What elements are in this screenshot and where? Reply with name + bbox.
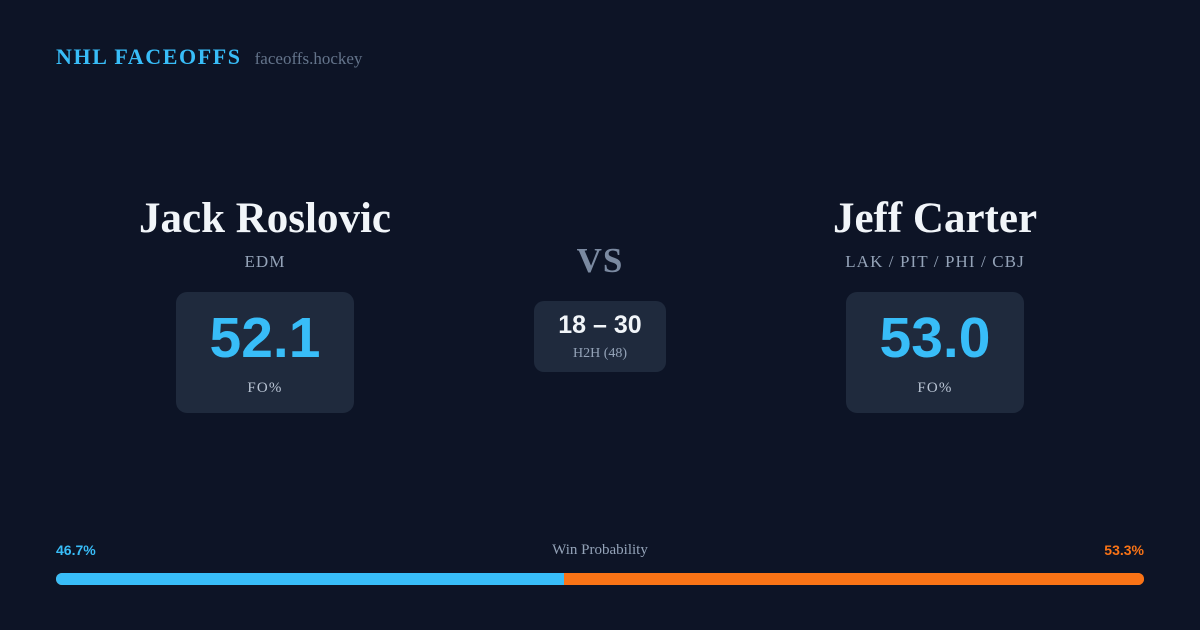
head-to-head-label: H2H (48) — [573, 347, 627, 361]
brand-domain: faceoffs.hockey — [255, 50, 363, 67]
player-left-stat-card: 52.1 FO% — [176, 292, 355, 413]
head-to-head-record: 18 – 30 — [558, 313, 641, 338]
player-right: Jeff Carter LAK / PIT / PHI / CBJ 53.0 F… — [705, 195, 1165, 413]
player-left-stat-value: 52.1 — [210, 310, 321, 367]
head-to-head-card: 18 – 30 H2H (48) — [534, 301, 665, 372]
brand-header: NHL FACEOFFS faceoffs.hockey — [56, 46, 362, 68]
player-right-stat-card: 53.0 FO% — [846, 292, 1025, 413]
win-probability-bar — [56, 573, 1144, 585]
versus-column: VS 18 – 30 H2H (48) — [495, 195, 705, 372]
win-probability-section: 46.7% Win Probability 53.3% — [56, 540, 1144, 585]
win-probability-right-percent: 53.3% — [1104, 543, 1144, 557]
player-left-stat-label: FO% — [247, 380, 282, 397]
win-probability-bar-left-fill — [56, 573, 564, 585]
win-probability-caption: Win Probability — [552, 543, 648, 558]
player-left-name: Jack Roslovic — [139, 195, 391, 243]
matchup-section: Jack Roslovic EDM 52.1 FO% VS 18 – 30 H2… — [0, 195, 1200, 413]
player-right-name: Jeff Carter — [833, 195, 1037, 243]
win-probability-left-percent: 46.7% — [56, 543, 96, 557]
player-right-teams: LAK / PIT / PHI / CBJ — [845, 252, 1025, 272]
brand-title: NHL FACEOFFS — [56, 46, 242, 68]
player-right-stat-value: 53.0 — [880, 310, 991, 367]
win-probability-bar-right-fill — [564, 573, 1144, 585]
versus-label: VS — [577, 243, 624, 278]
player-left-teams: EDM — [244, 252, 285, 272]
player-left: Jack Roslovic EDM 52.1 FO% — [35, 195, 495, 413]
player-right-stat-label: FO% — [917, 380, 952, 397]
win-probability-header: 46.7% Win Probability 53.3% — [56, 540, 1144, 560]
